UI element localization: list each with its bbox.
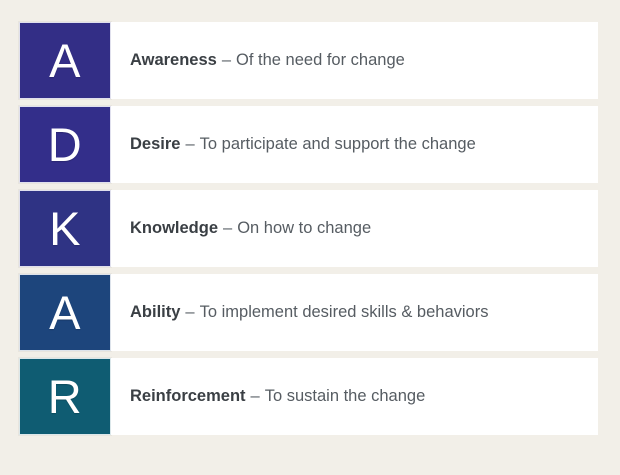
row-text-knowledge: Knowledge–On how to change bbox=[111, 190, 598, 267]
list-item: R Reinforcement–To sustain the change bbox=[19, 358, 598, 435]
letter-tile-ability: A bbox=[19, 274, 111, 351]
term-label: Ability bbox=[130, 303, 180, 322]
list-item: A Ability–To implement desired skills & … bbox=[19, 274, 598, 351]
letter-glyph: K bbox=[49, 205, 81, 252]
description-label: On how to change bbox=[237, 219, 371, 238]
description-label: To sustain the change bbox=[265, 387, 426, 406]
row-text-reinforcement: Reinforcement–To sustain the change bbox=[111, 358, 598, 435]
list-item: A Awareness–Of the need for change bbox=[19, 22, 598, 99]
term-label: Knowledge bbox=[130, 219, 218, 238]
dash-separator: – bbox=[251, 387, 260, 406]
row-text-ability: Ability–To implement desired skills & be… bbox=[111, 274, 598, 351]
list-item: D Desire–To participate and support the … bbox=[19, 106, 598, 183]
description-label: To participate and support the change bbox=[200, 135, 476, 154]
letter-tile-awareness: A bbox=[19, 22, 111, 99]
row-text-desire: Desire–To participate and support the ch… bbox=[111, 106, 598, 183]
letter-glyph: A bbox=[49, 289, 81, 336]
description-label: Of the need for change bbox=[236, 51, 405, 70]
dash-separator: – bbox=[185, 135, 194, 154]
term-label: Awareness bbox=[130, 51, 217, 70]
adkar-diagram: A Awareness–Of the need for change D Des… bbox=[0, 0, 620, 475]
dash-separator: – bbox=[222, 51, 231, 70]
letter-glyph: D bbox=[48, 121, 82, 168]
term-label: Desire bbox=[130, 135, 180, 154]
term-label: Reinforcement bbox=[130, 387, 246, 406]
description-label: To implement desired skills & behaviors bbox=[200, 303, 489, 322]
letter-tile-desire: D bbox=[19, 106, 111, 183]
dash-separator: – bbox=[185, 303, 194, 322]
letter-tile-reinforcement: R bbox=[19, 358, 111, 435]
letter-glyph: A bbox=[49, 37, 81, 84]
letter-tile-knowledge: K bbox=[19, 190, 111, 267]
list-item: K Knowledge–On how to change bbox=[19, 190, 598, 267]
row-text-awareness: Awareness–Of the need for change bbox=[111, 22, 598, 99]
letter-glyph: R bbox=[48, 373, 82, 420]
dash-separator: – bbox=[223, 219, 232, 238]
